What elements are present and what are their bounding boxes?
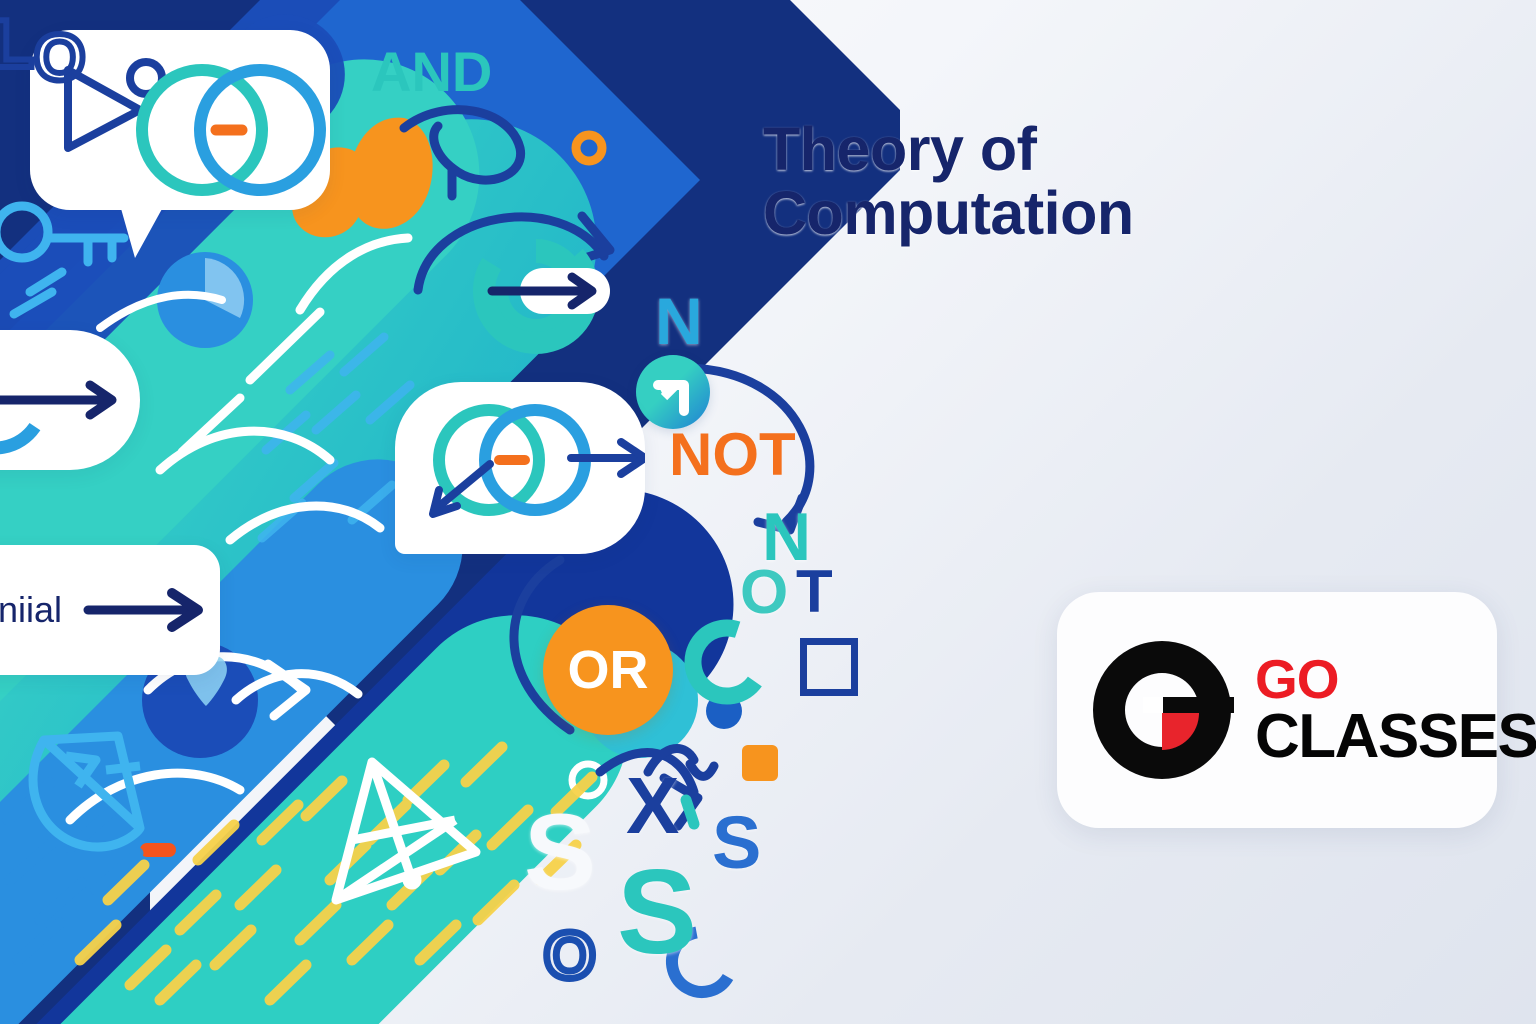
logic-card-venn [395,382,645,554]
gate-label-not: NOT [669,425,796,485]
gate-label-and: AND [371,44,492,100]
floating-letter-o-navy: O [544,922,595,988]
floating-letter-s-white: S [524,798,596,906]
floating-letter-t-navy: T [796,562,833,622]
floating-letter-n-blue: N [655,288,703,354]
brand-logo-card[interactable]: GO CLASSES [1057,592,1497,828]
title-line-1: Theory of [763,115,1036,183]
floating-letter-l: L [0,10,34,78]
venn-diagram-icon [439,410,585,510]
banner-root: iniial AND NOT OR L O N N O T [0,0,1536,1024]
floating-letter-s-teal: S [617,852,697,972]
page-title: Theory of Computation [763,117,1283,245]
brand-classes-text: CLASSES [1255,707,1536,768]
floating-letter-s-blue: S [712,806,761,880]
transition-badge-icon [636,355,710,429]
square-outline-icon [800,638,858,696]
logic-card-left [0,330,140,470]
floating-letter-o-topleft: O [34,24,85,90]
floating-letter-x-navy: X [626,766,679,846]
initial-state-card: iniial [0,545,220,675]
brand-go-text: GO [1255,653,1536,705]
brand-wordmark: GO CLASSES [1255,653,1536,768]
goclasses-g-mark-icon [1087,635,1237,785]
venn-diagram-icon [142,70,320,190]
gate-label-or: OR [543,605,673,735]
floating-letter-o-teal: O [740,562,788,624]
title-line-2: Computation [763,181,1283,245]
